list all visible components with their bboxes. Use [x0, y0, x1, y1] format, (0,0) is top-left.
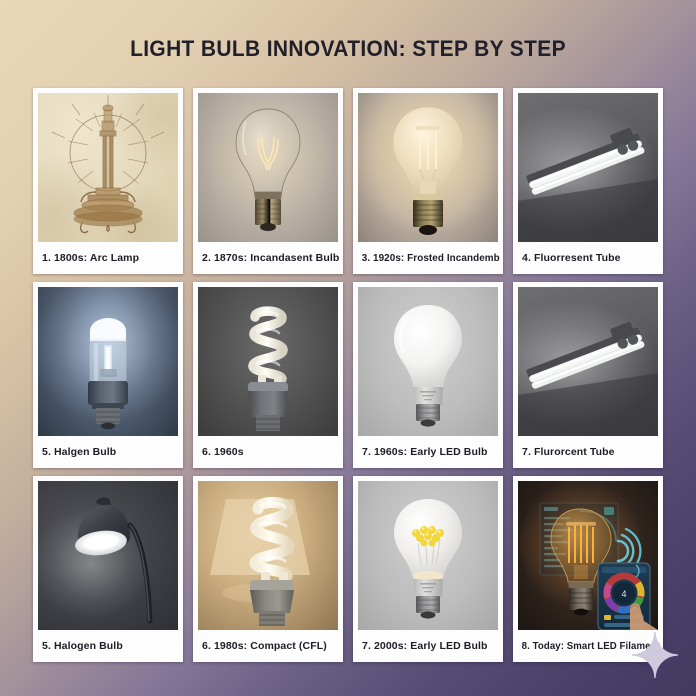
bulb-card[interactable]: 6. 1980s: Compact (CFL): [193, 476, 343, 662]
card-photo-incandescent-bulb: [198, 93, 338, 242]
svg-text:4: 4: [621, 589, 626, 599]
card-caption: 7. Flurorcent Tube: [518, 436, 658, 468]
led-bulb-icon: [358, 287, 498, 436]
bulb-card[interactable]: 6. 1960s: [193, 282, 343, 468]
bulb-card[interactable]: 3. 1920s: Frosted Incandemb: [353, 88, 503, 274]
card-photo-fluorescent-tube: [518, 287, 658, 436]
card-photo-led-bulb-matte: [358, 287, 498, 436]
poster-canvas: LIGHT BULB INNOVATION: STEP BY STEP: [0, 0, 696, 696]
bulb-card[interactable]: 7. 1960s: Early LED Bulb: [353, 282, 503, 468]
bulb-card[interactable]: 4 8. Today:: [513, 476, 663, 662]
card-photo-arc-lamp: [38, 93, 178, 242]
page-title: LIGHT BULB INNOVATION: STEP BY STEP: [24, 36, 671, 62]
card-caption: 2. 1870s: Incandasent Bulb: [198, 242, 338, 274]
card-caption: 7. 1960s: Early LED Bulb: [358, 436, 498, 468]
frosted-bulb-icon: [358, 93, 498, 242]
bulb-card[interactable]: 5. Halgen Bulb: [33, 282, 183, 468]
card-photo-halogen-capsule: [38, 287, 178, 436]
card-caption: 5. Halogen Bulb: [38, 630, 178, 662]
led-diode-bulb-icon: [358, 481, 498, 630]
arc-lamp-engraving-icon: [38, 93, 178, 242]
smart-bulb-scene-icon: 4: [518, 481, 658, 630]
desk-lamp-icon: [38, 481, 178, 630]
card-photo-desk-lamp: [38, 481, 178, 630]
fluorescent-fixture-icon: [518, 93, 658, 242]
halogen-bulb-icon: [38, 287, 178, 436]
card-photo-frosted-bulb: [358, 93, 498, 242]
card-caption: 6. 1980s: Compact (CFL): [198, 630, 338, 662]
cfl-spiral-warm-icon: [198, 481, 338, 630]
card-photo-smart-led-filament: 4: [518, 481, 658, 630]
fluorescent-fixture-icon: [518, 287, 658, 436]
card-photo-led-diode-bulb: [358, 481, 498, 630]
bulb-card[interactable]: 4. Fluorresent Tube: [513, 88, 663, 274]
card-photo-cfl-warm: [198, 481, 338, 630]
card-caption: 4. Fluorresent Tube: [518, 242, 658, 274]
cfl-spiral-icon: [198, 287, 338, 436]
incandescent-bulb-icon: [198, 93, 338, 242]
card-caption: 8. Today: Smart LED Filament: [518, 630, 646, 662]
card-caption: 7. 2000s: Early LED Bulb: [358, 630, 498, 662]
card-photo-cfl-spiral: [198, 287, 338, 436]
card-caption: 5. Halgen Bulb: [38, 436, 178, 468]
bulb-card-grid: 1. 1800s: Arc Lamp: [33, 88, 663, 662]
bulb-card[interactable]: 1. 1800s: Arc Lamp: [33, 88, 183, 274]
bulb-card[interactable]: 7. Flurorcent Tube: [513, 282, 663, 468]
card-caption: 6. 1960s: [198, 436, 338, 468]
bulb-card[interactable]: 2. 1870s: Incandasent Bulb: [193, 88, 343, 274]
card-caption: 1. 1800s: Arc Lamp: [38, 242, 178, 274]
bulb-card[interactable]: 5. Halogen Bulb: [33, 476, 183, 662]
card-caption: 3. 1920s: Frosted Incandemb: [358, 242, 490, 274]
card-photo-fluorescent-tube: [518, 93, 658, 242]
bulb-card[interactable]: 7. 2000s: Early LED Bulb: [353, 476, 503, 662]
